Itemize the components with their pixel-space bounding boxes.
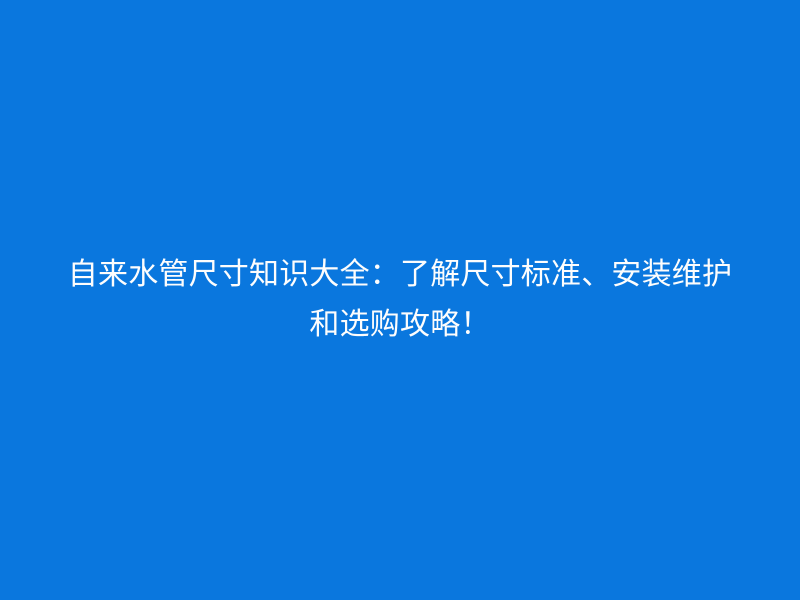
page-title: 自来水管尺寸知识大全：了解尺寸标准、安装维护和选购攻略！ [58, 250, 742, 350]
title-block: 自来水管尺寸知识大全：了解尺寸标准、安装维护和选购攻略！ [50, 250, 750, 350]
title-card: 自来水管尺寸知识大全：了解尺寸标准、安装维护和选购攻略！ [0, 0, 800, 600]
